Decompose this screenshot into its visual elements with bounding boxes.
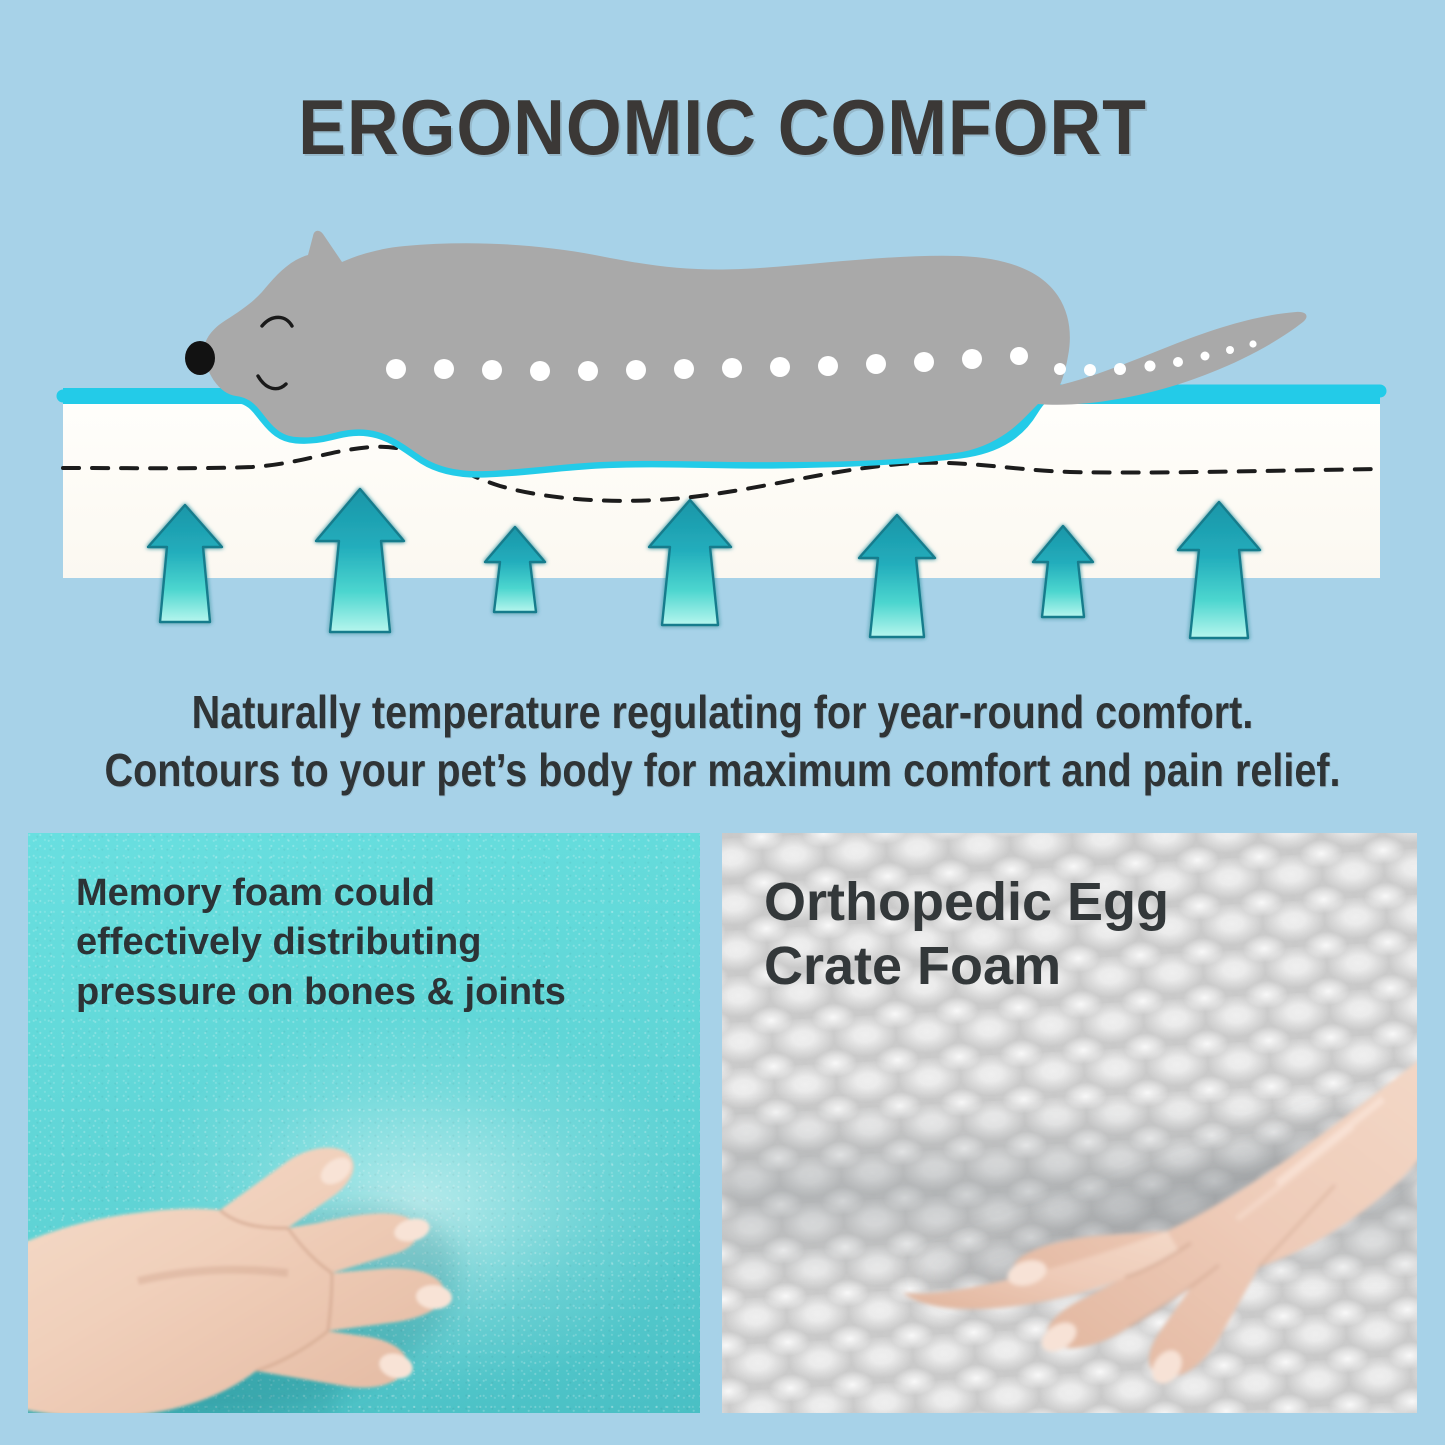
hand-shape — [28, 1148, 445, 1413]
ergonomic-diagram — [0, 0, 1445, 660]
panel-memory-foam: Memory foam could effectively distributi… — [28, 833, 700, 1413]
subtitle-line-1: Naturally temperature regulating for yea… — [101, 685, 1344, 739]
product-infographic: ERGONOMIC COMFORT — [0, 0, 1445, 1445]
hand-right-photo — [807, 1003, 1417, 1393]
panel-caption-egg-crate-foam: Orthopedic Egg Crate Foam — [764, 871, 1169, 998]
dog-nose — [185, 341, 215, 375]
hand-left-photo — [28, 1011, 588, 1413]
subtitle-line-2: Contours to your pet’s body for maximum … — [101, 743, 1344, 797]
panel-caption-memory-foam: Memory foam could effectively distributi… — [76, 869, 566, 1017]
panel-egg-crate-foam: Orthopedic Egg Crate Foam — [722, 833, 1417, 1413]
